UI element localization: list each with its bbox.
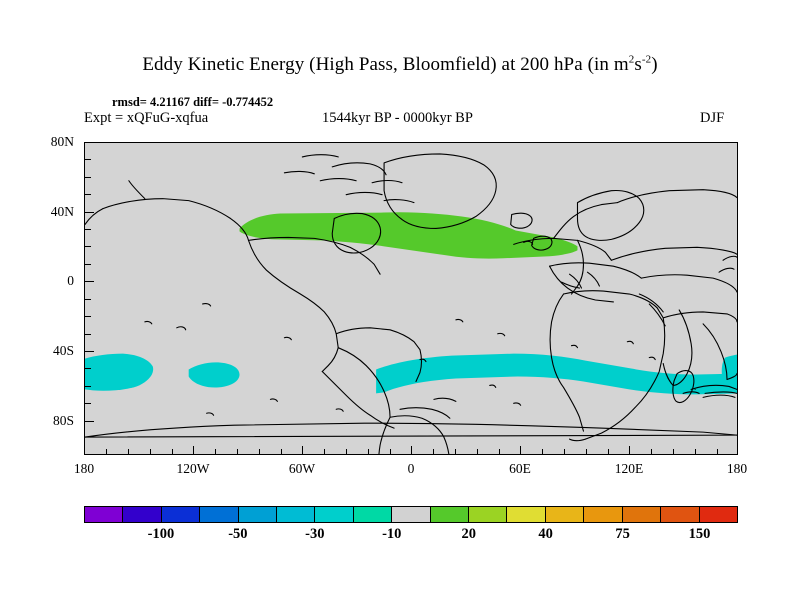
- x-axis-label-180W: 180: [54, 461, 114, 477]
- x-tick-minor: [324, 449, 325, 455]
- colorbar-segment-15: [661, 507, 699, 522]
- y-tick-minor: [85, 334, 91, 335]
- y-tick-minor: [85, 316, 91, 317]
- x-tick-minor: [717, 449, 718, 455]
- y-axis-label-0: 0: [30, 273, 74, 289]
- period-label: 1544kyr BP - 0000kyr BP: [322, 110, 473, 127]
- y-tick-minor: [85, 386, 91, 387]
- y-tick-minor: [85, 403, 91, 404]
- anomaly-south-pacific-west: [85, 354, 153, 391]
- colorbar-tick-label-150: 150: [670, 526, 730, 543]
- colorbar-tick-label--100: -100: [131, 526, 191, 543]
- season-label: DJF: [700, 110, 724, 127]
- colorbar-tick-label--50: -50: [208, 526, 268, 543]
- chart-title-mid: s: [634, 54, 642, 75]
- experiment-label: Expt = xQFuG-xqfua: [84, 110, 208, 127]
- y-axis-label-80N: 80N: [30, 134, 74, 150]
- x-axis-label-0: 0: [381, 461, 441, 477]
- x-tick-minor: [477, 449, 478, 455]
- x-tick-minor: [542, 449, 543, 455]
- colorbar-tick-label-20: 20: [439, 526, 499, 543]
- y-tick-40N: [85, 212, 94, 213]
- x-tick-minor: [150, 449, 151, 455]
- x-tick-minor: [564, 449, 565, 455]
- x-tick-180W: [84, 446, 85, 455]
- x-tick-minor: [499, 449, 500, 455]
- anomaly-south-pacific-mid: [189, 362, 240, 387]
- colorbar-segment-13: [584, 507, 622, 522]
- colorbar-segment-16: [700, 507, 737, 522]
- colorbar-tick-label--30: -30: [285, 526, 345, 543]
- colorbar: [84, 506, 738, 523]
- colorbar-segment-5: [277, 507, 315, 522]
- x-tick-60E: [520, 446, 521, 455]
- anomaly-regions: [85, 212, 737, 394]
- colorbar-segment-8: [392, 507, 430, 522]
- y-axis-label-80S: 80S: [30, 413, 74, 429]
- y-tick-minor: [85, 246, 91, 247]
- x-tick-minor: [673, 449, 674, 455]
- x-axis-label-180E: 180: [707, 461, 767, 477]
- x-tick-minor: [695, 449, 696, 455]
- colorbar-segment-2: [162, 507, 200, 522]
- colorbar-segment-1: [123, 507, 161, 522]
- x-tick-180E: [737, 446, 738, 455]
- y-tick-minor: [85, 368, 91, 369]
- x-tick-minor: [128, 449, 129, 455]
- x-tick-minor: [390, 449, 391, 455]
- x-tick-60W: [302, 446, 303, 455]
- x-tick-minor: [172, 449, 173, 455]
- colorbar-segment-14: [623, 507, 661, 522]
- colorbar-tick-label-40: 40: [516, 526, 576, 543]
- colorbar-labels: -100-50-30-10204075150: [84, 526, 738, 546]
- y-tick-minor: [85, 194, 91, 195]
- coastlines: [85, 154, 737, 454]
- y-tick-80S: [85, 421, 94, 422]
- y-axis-label-40S: 40S: [30, 343, 74, 359]
- x-axis-label-60E: 60E: [490, 461, 550, 477]
- y-tick-minor: [85, 264, 91, 265]
- map-plot-area: [84, 142, 738, 455]
- colorbar-segment-7: [354, 507, 392, 522]
- x-tick-minor: [106, 449, 107, 455]
- y-tick-minor: [85, 177, 91, 178]
- x-tick-minor: [346, 449, 347, 455]
- x-tick-minor: [433, 449, 434, 455]
- colorbar-segment-4: [239, 507, 277, 522]
- y-tick-80N: [85, 142, 94, 143]
- colorbar-segment-0: [85, 507, 123, 522]
- x-tick-minor: [368, 449, 369, 455]
- x-tick-0: [411, 446, 412, 455]
- colorbar-segment-3: [200, 507, 238, 522]
- y-tick-40S: [85, 351, 94, 352]
- world-map-svg: [85, 143, 737, 454]
- chart-title: Eddy Kinetic Energy (High Pass, Bloomfie…: [0, 54, 800, 76]
- anomaly-north-atlantic: [240, 212, 578, 258]
- colorbar-tick-label--10: -10: [362, 526, 422, 543]
- chart-title-superscript-2: -2: [642, 54, 651, 66]
- y-tick-minor: [85, 159, 91, 160]
- colorbar-segment-12: [546, 507, 584, 522]
- colorbar-tick-label-75: 75: [593, 526, 653, 543]
- x-tick-minor: [651, 449, 652, 455]
- chart-title-main: Eddy Kinetic Energy (High Pass, Bloomfie…: [142, 54, 628, 75]
- colorbar-segment-11: [507, 507, 545, 522]
- x-tick-minor: [237, 449, 238, 455]
- y-tick-0: [85, 281, 94, 282]
- colorbar-segment-9: [431, 507, 469, 522]
- chart-title-close-paren: ): [651, 54, 657, 75]
- x-axis-label-120E: 120E: [599, 461, 659, 477]
- x-tick-minor: [586, 449, 587, 455]
- y-tick-minor: [85, 229, 91, 230]
- y-axis-label-40N: 40N: [30, 204, 74, 220]
- y-tick-minor: [85, 299, 91, 300]
- x-axis-label-60W: 60W: [272, 461, 332, 477]
- colorbar-segment-6: [315, 507, 353, 522]
- rmsd-annotation: rmsd= 4.21167 diff= -0.774452: [112, 95, 273, 110]
- x-tick-minor: [281, 449, 282, 455]
- colorbar-segment-10: [469, 507, 507, 522]
- x-tick-minor: [215, 449, 216, 455]
- x-tick-minor: [608, 449, 609, 455]
- x-tick-minor: [259, 449, 260, 455]
- x-tick-minor: [455, 449, 456, 455]
- x-axis-label-120W: 120W: [163, 461, 223, 477]
- x-tick-120W: [193, 446, 194, 455]
- x-tick-120E: [629, 446, 630, 455]
